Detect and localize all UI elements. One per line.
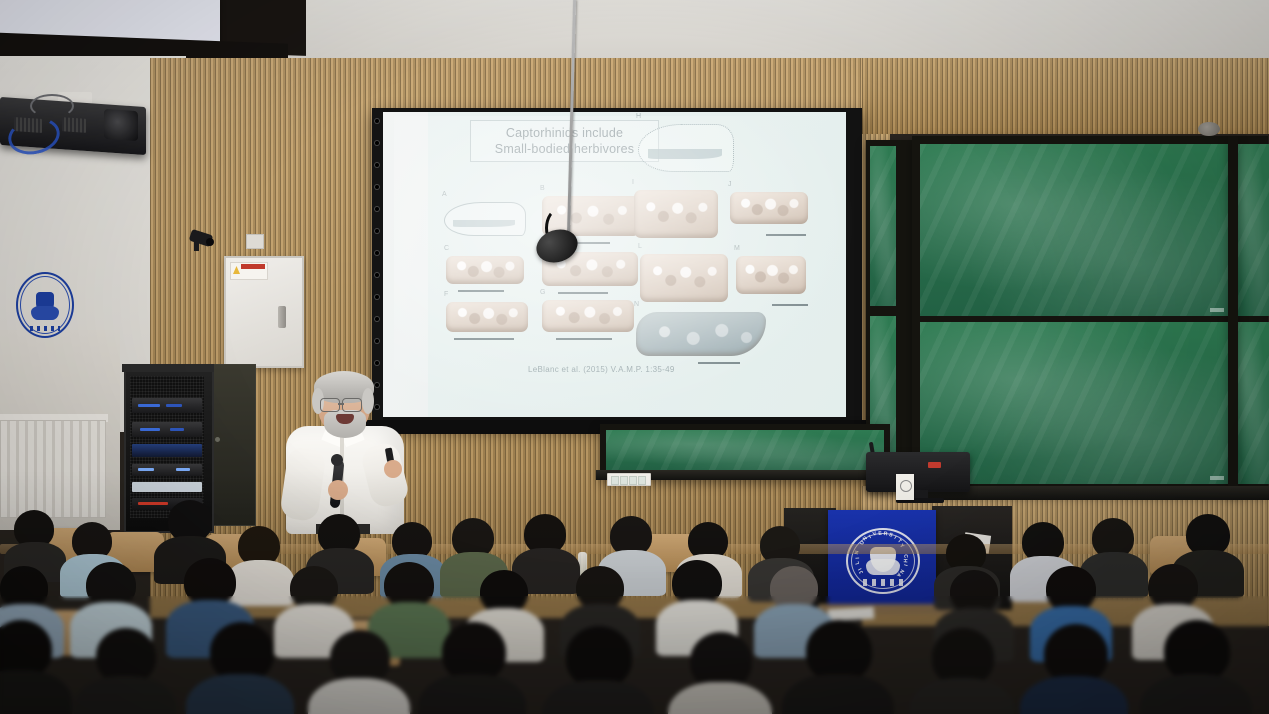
slide-panel-m: M [736, 256, 806, 294]
rack-led-blue-3 [140, 428, 160, 431]
presenter-glasses-right-lens [342, 398, 362, 412]
presenter-hair-side-right [362, 388, 374, 414]
panel-label-a: A [442, 191, 447, 198]
ceiling-speaker [1198, 122, 1220, 136]
wall-university-seal [16, 272, 74, 338]
rack-unit-2 [132, 422, 202, 437]
projector-grey-cable [30, 94, 74, 118]
slide-panel-i: I [634, 190, 718, 238]
panel-label-h: H [636, 113, 641, 120]
rack-led-blue-1 [138, 404, 160, 407]
rack-top-panel [122, 364, 214, 372]
slide-panel-c: C [446, 256, 524, 284]
slide-title-line-2: Small-bodied herbivores [477, 141, 652, 157]
panel-label-j: J [728, 181, 732, 188]
chalkboard-frame-right [1228, 136, 1238, 494]
fossil-jaw-c [446, 256, 524, 284]
student-head [806, 620, 872, 682]
slide-panel-n: N [636, 312, 766, 356]
ceiling-projector [0, 92, 148, 158]
panel-label-l: L [638, 243, 642, 250]
monitor-red-sticker [928, 462, 941, 468]
warning-triangle-icon [233, 266, 240, 274]
skull-diagram-a [444, 202, 526, 236]
projector-vent-right [62, 117, 86, 133]
student-shoulders [910, 678, 1014, 714]
panel-label-b: B [540, 185, 545, 192]
handheld-microphone-head [331, 454, 343, 466]
fossil-jaw-m [736, 256, 806, 294]
slide-panel-l: L [640, 254, 728, 302]
cabinet-label-red-bar [241, 264, 265, 269]
projection-screen: Captorhinids include Small-bodied herbiv… [372, 108, 862, 426]
student-shoulders [542, 680, 654, 714]
student-shoulders [74, 676, 176, 714]
skull-diagram-h [638, 124, 734, 172]
student-shoulders [0, 670, 72, 714]
chalkboard-lower-center[interactable] [606, 430, 884, 470]
presenter-glasses-left-lens [320, 398, 340, 412]
fossil-jaw-g [542, 300, 634, 332]
screen-surface: Captorhinids include Small-bodied herbiv… [383, 112, 846, 417]
cabinet-handle[interactable] [278, 306, 286, 328]
student-shoulders [1020, 676, 1128, 714]
panel-label-f: F [444, 291, 448, 298]
slide-panel-j: J [730, 192, 808, 224]
rack-led-blue-4 [170, 428, 184, 431]
scale-bar-m [772, 304, 808, 306]
student-head [566, 626, 632, 688]
wall-seal-chinese-text [30, 326, 60, 331]
rack-unit-1 [132, 398, 202, 413]
slide-panel-g: G [542, 300, 634, 332]
scale-bar-j [766, 234, 806, 236]
rack-door-knob[interactable] [215, 437, 220, 442]
student-shoulders [226, 560, 294, 606]
chalkboard-left-upper[interactable] [870, 146, 896, 306]
student-head [1164, 620, 1230, 682]
fossil-jaw-n [636, 312, 766, 356]
student-shoulders [308, 678, 410, 714]
student-head [184, 558, 236, 606]
rack-unit-3 [132, 444, 202, 457]
student-head [1044, 624, 1108, 684]
slide-panel-a: A [444, 202, 526, 236]
slide-panel-h: H [638, 124, 734, 172]
panel-label-m: M [734, 245, 740, 252]
slide-panel-f: F [446, 302, 528, 332]
student-head [210, 622, 274, 682]
scale-bar-c [458, 290, 504, 292]
projector-lens [104, 109, 138, 141]
fire-equipment-cabinet[interactable] [224, 256, 304, 368]
fossil-jaw-l [640, 254, 728, 302]
student-head [442, 622, 506, 682]
chalkboard-right-lower[interactable] [1236, 322, 1269, 484]
slide-title-box: Captorhinids include Small-bodied herbiv… [470, 120, 659, 162]
scale-bar-n [698, 362, 740, 364]
wall-seal-bird-icon [31, 306, 59, 319]
chalkboard-right-upper[interactable] [1236, 144, 1269, 316]
audience [0, 470, 1269, 714]
camera-mount [194, 242, 199, 251]
panel-label-n: N [634, 301, 639, 308]
student-shoulders [418, 674, 526, 714]
slide-citation: LeBlanc et al. (2015) V.A.M.P. 1:35-49 [528, 365, 675, 374]
ceiling-display-text [0, 4, 1, 11]
presentation-slide: Captorhinids include Small-bodied herbiv… [428, 112, 846, 417]
scale-bar-g [556, 338, 612, 340]
scale-bar-e [558, 292, 608, 294]
chalkboard-tag-1 [1210, 308, 1224, 312]
fossil-jaw-f [446, 302, 528, 332]
student-shoulders [668, 682, 772, 714]
camera-lens [206, 238, 214, 246]
cabinet-warning-label [230, 262, 268, 280]
chalkboard-center-upper[interactable] [920, 144, 1230, 316]
fossil-jaw-j [730, 192, 808, 224]
slide-title-line-1: Captorhinids include [477, 125, 652, 141]
student-shoulders [186, 674, 294, 714]
student-shoulders [782, 674, 894, 714]
scale-bar-f [454, 338, 514, 340]
rack-led-blue-2 [166, 404, 182, 407]
panel-label-c: C [444, 245, 449, 252]
fossil-jaw-i [634, 190, 718, 238]
presenter-glasses-bridge [338, 403, 344, 405]
security-camera [190, 230, 216, 252]
student-shoulders [1140, 674, 1252, 714]
lecture-hall-photo: Captorhinids include Small-bodied herbiv… [0, 0, 1269, 714]
panel-label-i: I [632, 179, 634, 186]
wall-outlet-plate[interactable] [246, 234, 264, 249]
panel-label-g: G [540, 289, 545, 296]
